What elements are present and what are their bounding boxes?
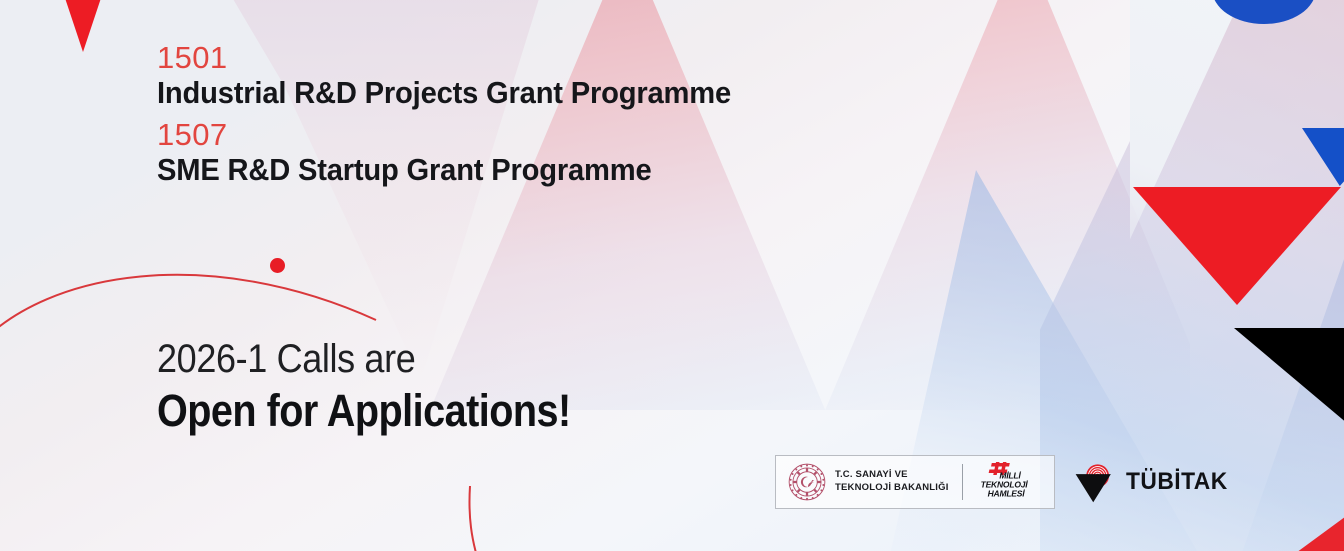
cta-line-one: 2026-1 Calls are (157, 337, 580, 381)
tubitak-wordmark: TÜBİTAK (1126, 468, 1228, 496)
milli-teknoloji-hamlesi-icon: MİLLİ TEKNOLOJİ HAMLESİ (976, 462, 1040, 502)
red-arc-upper-decoration (0, 236, 398, 346)
promo-banner: 1501 Industrial R&D Projects Grant Progr… (0, 0, 1344, 551)
programme-name-1501: Industrial R&D Projects Grant Programme (157, 77, 731, 110)
programme-code-1507: 1507 (157, 119, 768, 150)
svg-text:HAMLESİ: HAMLESİ (987, 489, 1025, 499)
blue-circle-top-right-icon (1212, 0, 1316, 24)
red-triangle-top-left-icon (53, 0, 113, 52)
tubitak-logo-icon (1073, 460, 1117, 504)
red-triangle-right-icon (1133, 187, 1341, 305)
red-triangle-bottom-right-icon (1259, 470, 1344, 551)
ministry-wordmark-line-2: TEKNOLOJİ BAKANLIĞI (835, 482, 949, 495)
programme-name-1507: SME R&D Startup Grant Programme (157, 154, 731, 187)
programme-code-1501: 1501 (157, 42, 768, 73)
programme-headline-block: 1501 Industrial R&D Projects Grant Progr… (157, 42, 768, 186)
ministry-wordmark-line-1: T.C. SANAYİ VE (835, 469, 949, 482)
background-white-wedge-shape (1130, 0, 1344, 340)
red-dot-decoration (270, 258, 285, 273)
cta-line-two: Open for Applications! (157, 387, 571, 434)
turkish-ministry-seal-icon (788, 463, 826, 501)
call-to-action-block: 2026-1 Calls are Open for Applications! (157, 337, 627, 434)
red-arc-lower-decoration (424, 470, 554, 551)
blue-triangle-right-icon (1302, 128, 1344, 186)
ministry-logo-box: T.C. SANAYİ VE TEKNOLOJİ BAKANLIĞI MİLLİ (775, 455, 1055, 509)
svg-text:MİLLİ: MİLLİ (999, 471, 1021, 481)
logo-bar: T.C. SANAYİ VE TEKNOLOJİ BAKANLIĞI MİLLİ (775, 455, 1233, 509)
black-triangle-bottom-right-icon (1234, 328, 1344, 488)
tubitak-logo: TÜBİTAK (1073, 460, 1233, 504)
ministry-wordmark: T.C. SANAYİ VE TEKNOLOJİ BAKANLIĞI (835, 469, 949, 494)
ministry-logo-group: T.C. SANAYİ VE TEKNOLOJİ BAKANLIĞI (788, 463, 949, 501)
svg-text:TEKNOLOJİ: TEKNOLOJİ (980, 480, 1028, 490)
logo-divider (962, 464, 963, 500)
